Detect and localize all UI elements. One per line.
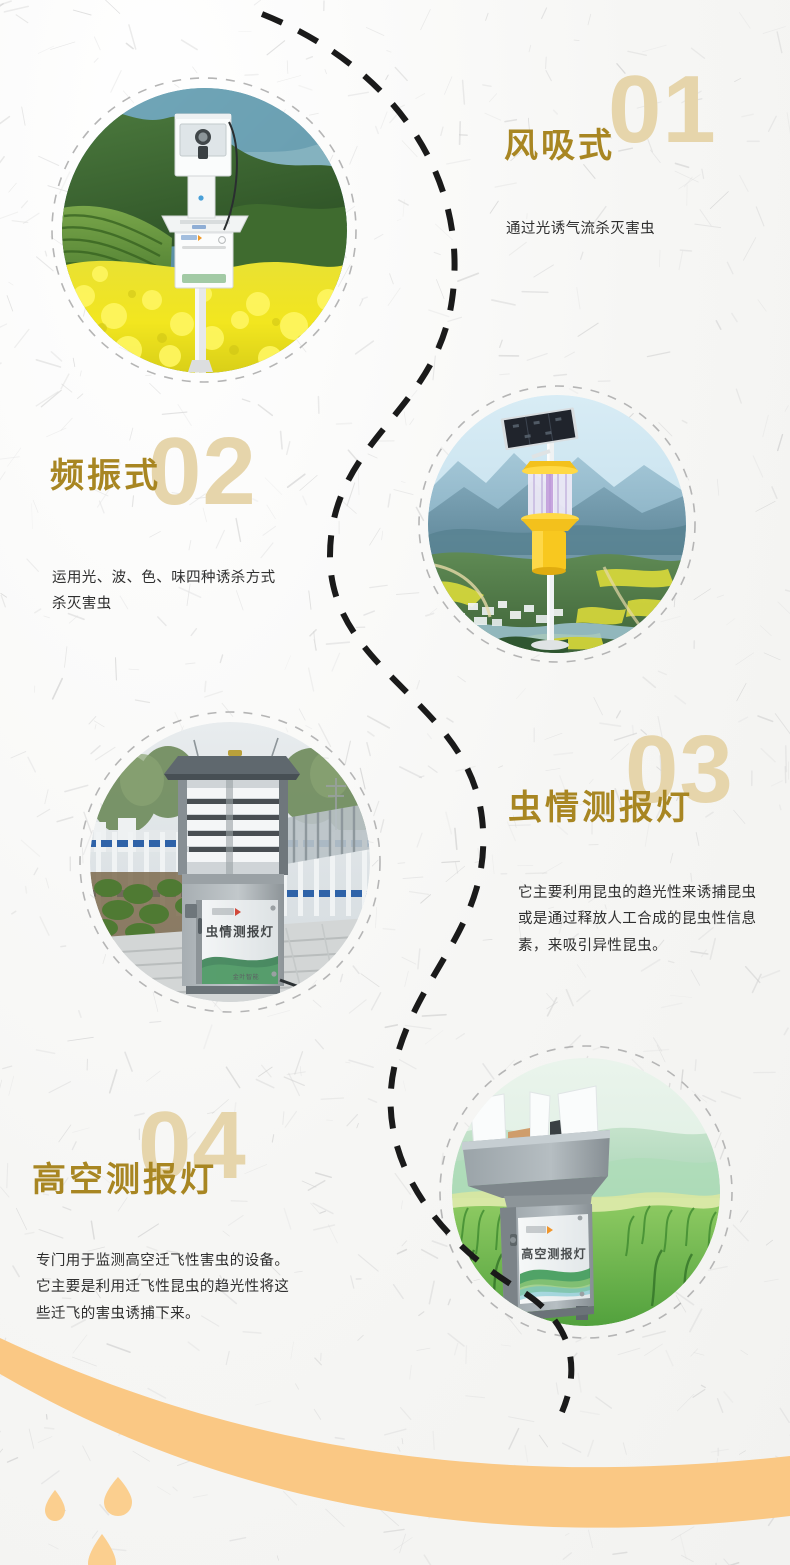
- section-2-number: 02: [148, 424, 257, 520]
- svg-text:金叶智能: 金叶智能: [233, 973, 259, 981]
- section-2-heading: 频振式: [50, 458, 161, 495]
- section-3-heading: 虫情测报灯: [508, 790, 693, 827]
- photo-circle-4: 高空测报灯: [452, 1058, 720, 1326]
- infographic-stage: 虫情测报灯 金叶智能: [0, 0, 790, 1565]
- droplet-3: [88, 1534, 116, 1565]
- section-1-description: 通过光诱气流杀灭害虫: [506, 216, 756, 242]
- frequency-vibration-lamp-photo: [428, 395, 686, 653]
- wind-suction-insect-lamp-photo: [62, 88, 347, 373]
- bottom-decoration: [0, 1330, 790, 1565]
- section-2-description: 运用光、波、色、味四种诱杀方式杀灭害虫: [52, 565, 290, 618]
- section-4-description: 专门用于监测高空迁飞性害虫的设备。它主要是利用迁飞性昆虫的趋光性将这些迁飞的害虫…: [36, 1248, 296, 1327]
- photo-circle-1: [62, 88, 347, 373]
- photo-circle-3: 虫情测报灯 金叶智能: [90, 722, 370, 1002]
- photo-circle-2: [428, 395, 686, 653]
- section-4-heading: 高空测报灯: [32, 1162, 217, 1199]
- pest-forecast-lamp-photo: 虫情测报灯 金叶智能: [90, 722, 370, 1002]
- droplet-group: [45, 1477, 132, 1565]
- section-1-number: 01: [608, 62, 717, 158]
- section-1-heading: 风吸式: [504, 128, 615, 165]
- svg-text:虫情测报灯: 虫情测报灯: [206, 924, 275, 939]
- section-3-description: 它主要利用昆虫的趋光性来诱捕昆虫或是通过释放人工合成的昆虫性信息素，来吸引异性昆…: [518, 880, 758, 959]
- droplet-1: [104, 1477, 132, 1516]
- droplet-2: [45, 1490, 65, 1521]
- high-altitude-forecast-lamp-photo: 高空测报灯: [452, 1058, 720, 1326]
- svg-text:高空测报灯: 高空测报灯: [521, 1246, 587, 1261]
